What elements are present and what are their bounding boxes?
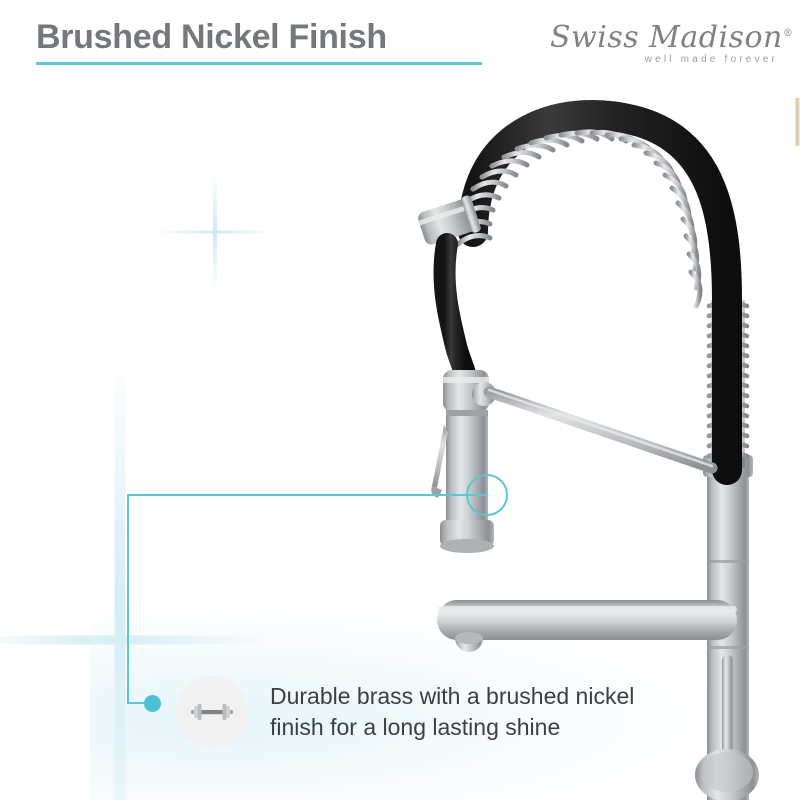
adjacent-image-edge-sliver <box>795 98 800 146</box>
feature-caption-line-1: Durable brass with a brushed nickel <box>270 681 634 712</box>
feature-caption-text: Durable brass with a brushed nickel fini… <box>270 681 634 743</box>
callout-endpoint-dot <box>144 695 161 712</box>
feature-caption-line-2: finish for a long lasting shine <box>270 712 634 743</box>
callout-target-ring <box>466 474 508 516</box>
feature-badge <box>176 676 248 748</box>
feature-caption-row: Durable brass with a brushed nickel fini… <box>176 676 634 748</box>
dumbbell-icon <box>190 700 234 724</box>
product-feature-graphic: Brushed Nickel Finish Swiss Madison® wel… <box>0 0 800 800</box>
